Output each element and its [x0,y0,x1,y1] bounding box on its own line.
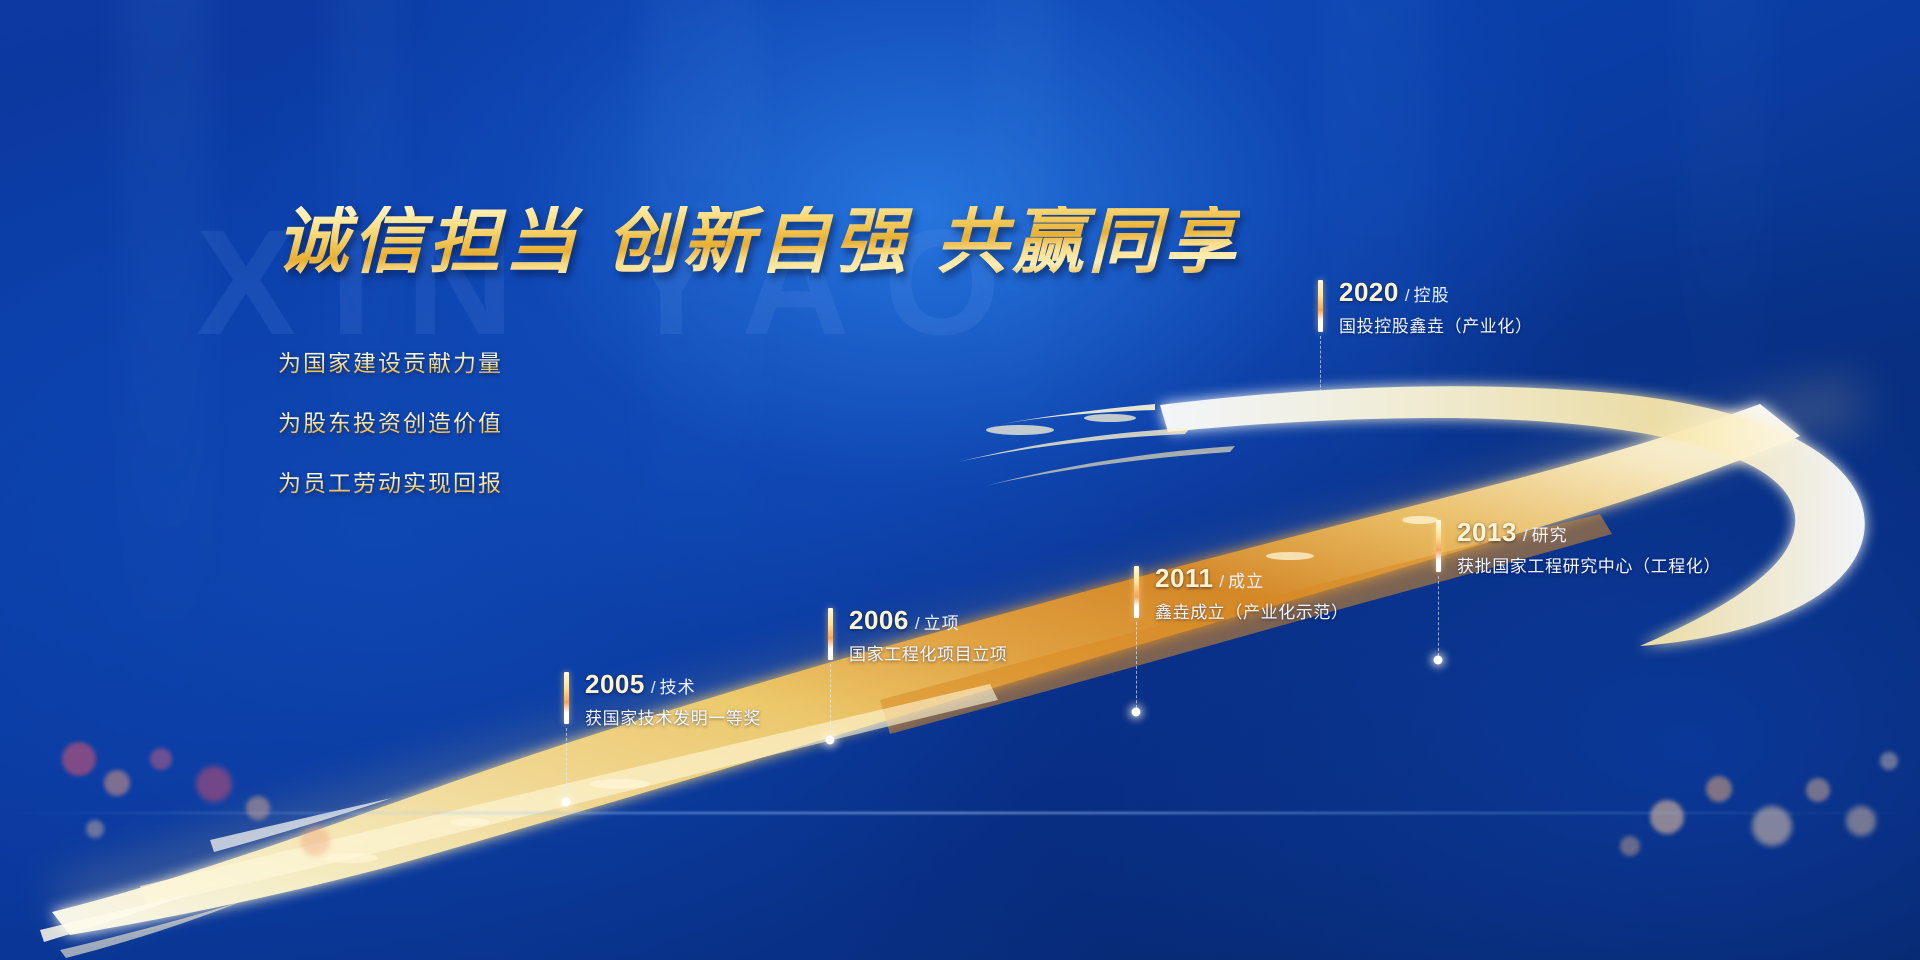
milestone-tag: 控股 [1414,286,1450,305]
milestone-tag: 成立 [1228,572,1264,591]
milestone-separator: / [915,614,920,633]
milestone-year: 2011 [1155,563,1213,593]
subtitle-group: 为国家建设贡献力量 为股东投资创造价值 为员工劳动实现回报 [278,352,503,532]
subtitle-line-2: 为股东投资创造价值 [278,412,503,435]
milestone-year: 2013 [1457,517,1517,547]
milestone-dot[interactable] [1434,656,1443,665]
milestone-separator: / [651,678,656,697]
subtitle-line-3: 为员工劳动实现回报 [278,472,503,495]
headline-part-1: 诚信担当 [276,202,580,282]
page-title: 诚信担当创新自强共赢同享 [276,206,1240,278]
headline-part-3: 共赢同享 [936,202,1240,282]
milestone-year: 2020 [1339,277,1399,307]
milestone-tag: 技术 [660,678,696,697]
milestone-year: 2005 [585,669,645,699]
milestone-accent-bar [1318,280,1323,332]
milestone-accent-bar [1134,566,1139,618]
headline-part-2: 创新自强 [606,202,910,282]
milestone-description: 国投控股鑫垚（产业化） [1339,318,1533,335]
milestone-text: 2011/成立 鑫垚成立（产业化示范） [1155,565,1349,621]
milestone-text: 2013/研究 获批国家工程研究中心（工程化） [1457,519,1721,575]
horizon-glow-line [0,812,1920,814]
milestone-text: 2005/技术 获国家技术发明一等奖 [585,671,761,727]
milestone-accent-bar [1436,520,1441,572]
milestone-year: 2006 [849,605,909,635]
milestone-leader-line [1320,336,1321,402]
milestone-separator: / [1405,286,1410,305]
milestone-separator: / [1219,572,1224,591]
milestone-accent-bar [564,672,569,724]
milestone-accent-bar [828,608,833,660]
milestone-leader-line [566,728,567,800]
milestone-tag: 研究 [1532,526,1568,545]
milestone-description: 获国家技术发明一等奖 [585,710,761,727]
milestone-description: 国家工程化项目立项 [849,646,1007,663]
milestone-dot[interactable] [826,736,835,745]
banner-canvas: XIN YAO 诚信担当创新自强共赢同享 为国家建设贡献力量 为股东投资创造价值… [0,0,1920,960]
milestone-separator: / [1523,526,1528,545]
milestone-text: 2020/控股 国投控股鑫垚（产业化） [1339,279,1533,335]
milestone-dot[interactable] [1132,708,1141,717]
milestone-text: 2006/立项 国家工程化项目立项 [849,607,1007,663]
milestone-description: 获批国家工程研究中心（工程化） [1457,558,1721,575]
milestone-leader-line [1136,622,1137,708]
milestone-leader-line [1438,576,1439,656]
milestone-description: 鑫垚成立（产业化示范） [1155,604,1349,621]
milestone-tag: 立项 [924,614,960,633]
subtitle-line-1: 为国家建设贡献力量 [278,352,503,375]
milestone-dot[interactable] [562,798,571,807]
milestone-leader-line [830,664,831,738]
